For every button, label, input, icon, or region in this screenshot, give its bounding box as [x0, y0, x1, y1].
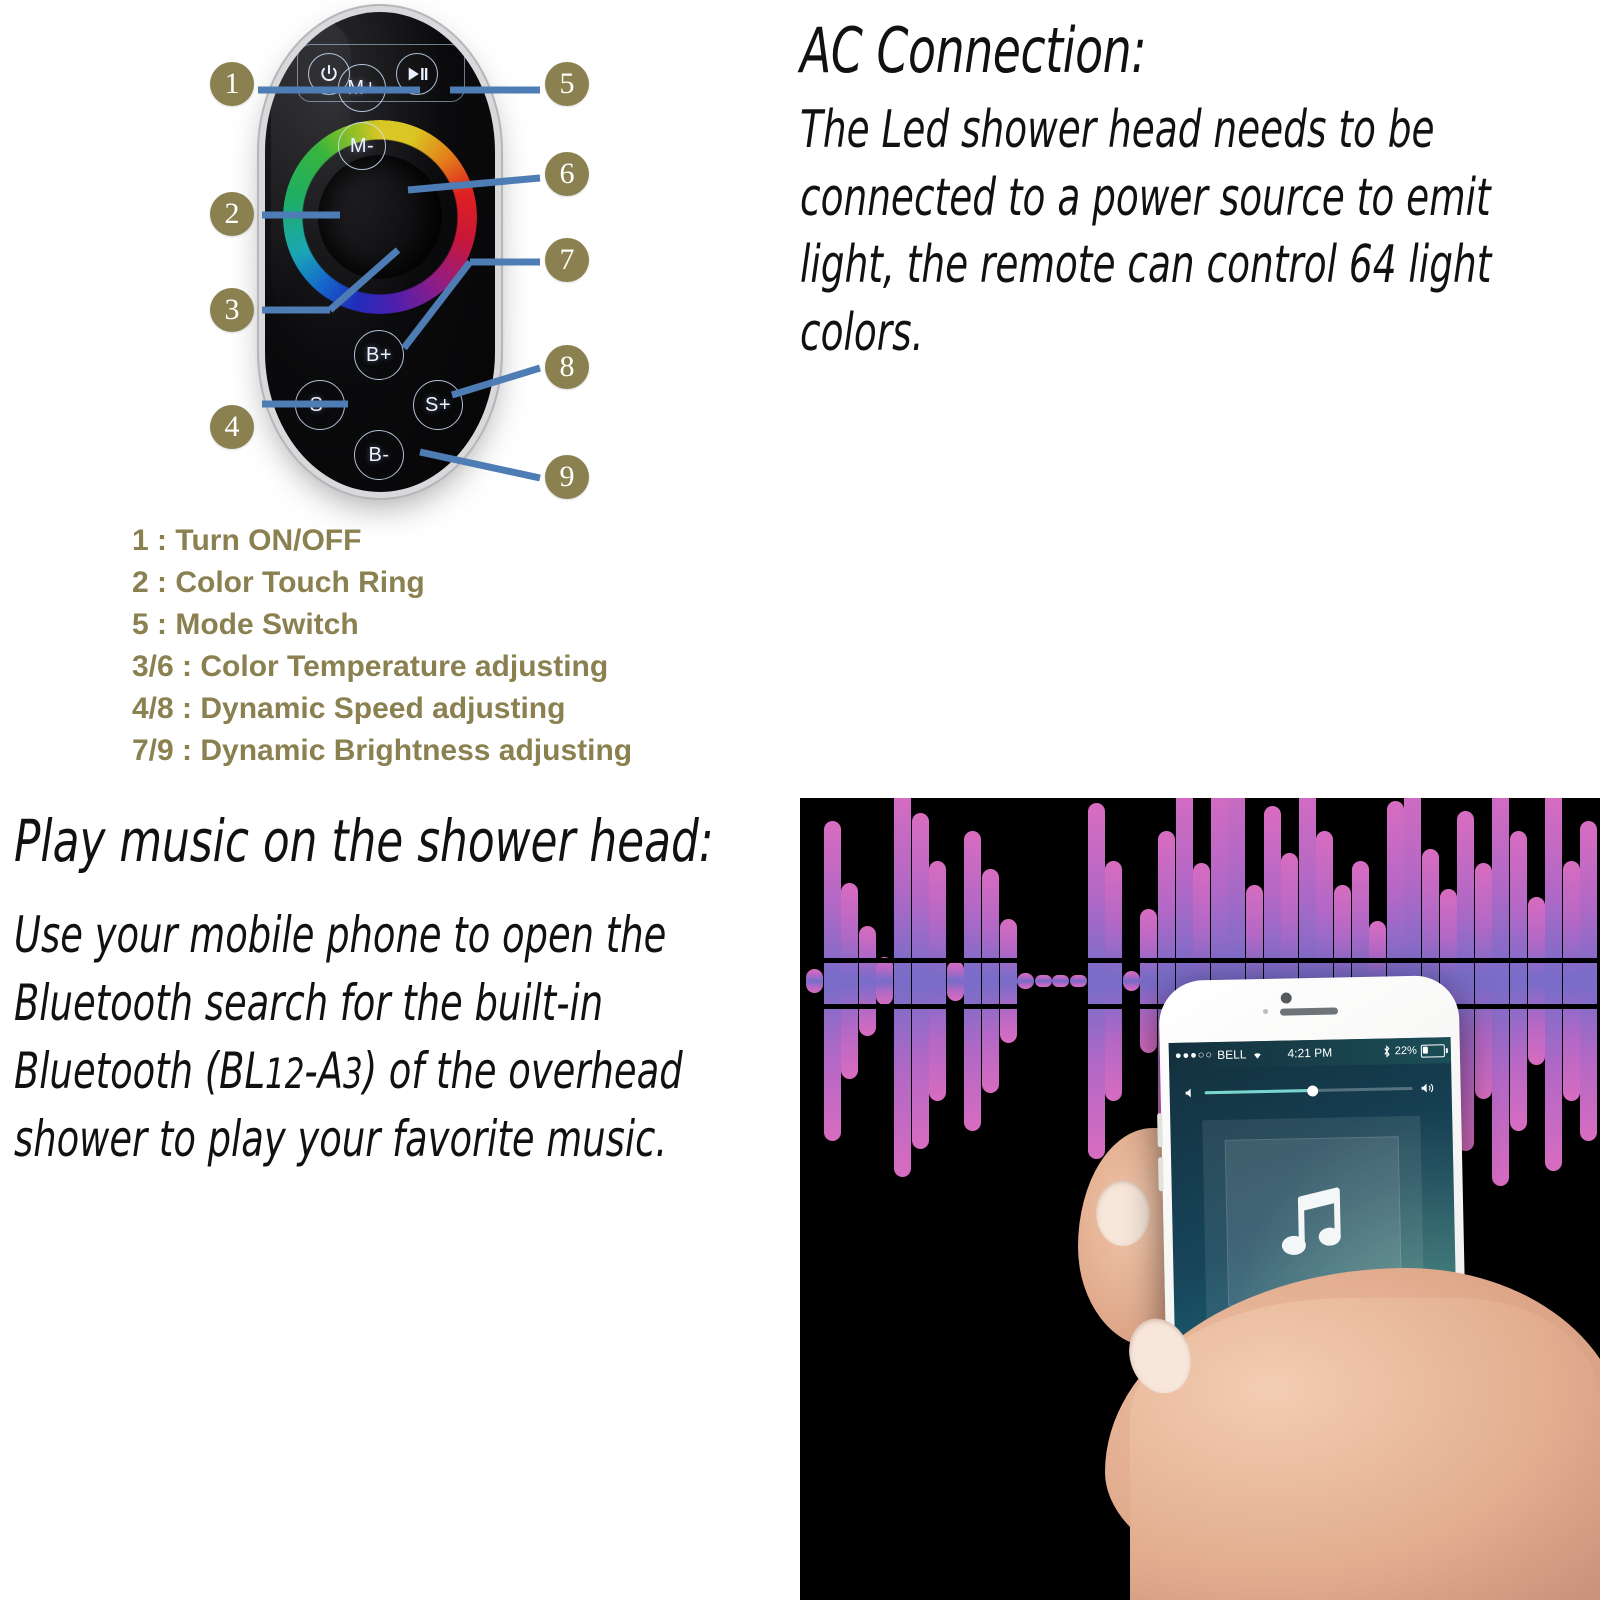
front-camera-icon	[1281, 992, 1292, 1003]
proximity-sensor-icon	[1263, 1009, 1268, 1014]
equalizer-bar	[1017, 973, 1034, 989]
earpiece-speaker	[1280, 1007, 1338, 1015]
callout-4: 4	[210, 405, 254, 449]
legend-item: 7/9 : Dynamic Brightness adjusting	[132, 730, 772, 772]
volume-slider-track[interactable]	[1205, 1087, 1413, 1094]
equalizer-bar	[947, 961, 964, 1001]
volume-slider-knob[interactable]	[1307, 1085, 1318, 1096]
fingernail	[1096, 1180, 1150, 1246]
equalizer-bar	[929, 861, 946, 1101]
equalizer-bar	[1528, 897, 1545, 1065]
equalizer-bar	[824, 821, 841, 1141]
equalizer-bar	[1475, 863, 1492, 1099]
equalizer-bar	[1052, 975, 1069, 987]
legend-item: 5 : Mode Switch	[132, 604, 772, 646]
equalizer-bar	[1545, 798, 1562, 1171]
legend-item: 1 : Turn ON/OFF	[132, 520, 772, 562]
music-photo-panel: ●●●○○ BELL 4:21 PM 22%	[800, 798, 1600, 1600]
remote-diagram-panel: M+ M- B+ S- S+ B- 1 2	[0, 0, 790, 520]
equalizer-bar	[1070, 975, 1087, 987]
legend-item: 4/8 : Dynamic Speed adjusting	[132, 688, 772, 730]
callout-2: 2	[210, 192, 254, 236]
equalizer-bar	[912, 813, 929, 1149]
callout-3: 3	[210, 288, 254, 332]
equalizer-bar	[1140, 909, 1157, 1053]
equalizer-bar	[806, 969, 823, 993]
legend-item: 3/6 : Color Temperature adjusting	[132, 646, 772, 688]
equalizer-bar	[876, 957, 893, 1005]
equalizer-bar	[1580, 821, 1597, 1141]
callout-5: 5	[545, 62, 589, 106]
battery-percent-label: 22%	[1395, 1045, 1417, 1057]
battery-icon	[1421, 1044, 1445, 1057]
play-music-body-part2: -A	[304, 1042, 343, 1100]
callout-6: 6	[545, 152, 589, 196]
equalizer-bar	[982, 869, 999, 1093]
equalizer-bar	[841, 883, 858, 1079]
play-music-model-num1: 12	[265, 1049, 304, 1098]
bluetooth-icon	[1383, 1045, 1391, 1057]
volume-slider-row[interactable]	[1184, 1081, 1438, 1099]
equalizer-bar	[1510, 831, 1527, 1131]
ac-connection-title: AC Connection:	[800, 18, 1440, 83]
play-music-body: Use your mobile phone to open the Blueto…	[14, 901, 788, 1173]
status-bar: ●●●○○ BELL 4:21 PM 22%	[1169, 1037, 1451, 1069]
infographic-page: M+ M- B+ S- S+ B- 1 2	[0, 0, 1600, 1600]
volume-slider-fill	[1205, 1089, 1313, 1094]
callout-1: 1	[210, 62, 254, 106]
equalizer-bar	[1000, 919, 1017, 1043]
equalizer-bar	[1563, 861, 1580, 1101]
callout-7: 7	[545, 238, 589, 282]
ac-connection-block: AC Connection: The Led shower head needs…	[800, 18, 1580, 367]
thumb	[1130, 1298, 1600, 1600]
play-music-title: Play music on the shower head:	[14, 808, 787, 875]
status-bar-right: 22%	[1383, 1044, 1445, 1058]
volume-high-icon	[1420, 1081, 1437, 1094]
callout-leader-lines	[0, 0, 790, 520]
equalizer-bar	[1105, 861, 1122, 1101]
volume-low-icon	[1184, 1086, 1197, 1099]
equalizer-bar	[1035, 975, 1052, 987]
equalizer-bar	[1088, 803, 1105, 1159]
volume-up-button[interactable]	[1157, 1113, 1163, 1147]
equalizer-axis-top	[800, 958, 1600, 963]
callout-9: 9	[545, 455, 589, 499]
play-music-block: Play music on the shower head: Use your …	[14, 808, 794, 1173]
legend-list: 1 : Turn ON/OFF 2 : Color Touch Ring 5 :…	[132, 520, 772, 772]
equalizer-bar	[1492, 798, 1509, 1186]
equalizer-bar	[964, 831, 981, 1131]
equalizer-bar	[859, 926, 876, 1036]
equalizer-bar	[894, 798, 911, 1177]
legend-item: 2 : Color Touch Ring	[132, 562, 772, 604]
ac-connection-body: The Led shower head needs to be connecte…	[800, 97, 1561, 367]
play-music-model-num2: 3	[343, 1049, 363, 1098]
callout-8: 8	[545, 345, 589, 389]
volume-down-button[interactable]	[1158, 1157, 1164, 1191]
equalizer-bar	[1123, 971, 1140, 991]
music-note-icon	[1275, 1180, 1353, 1262]
